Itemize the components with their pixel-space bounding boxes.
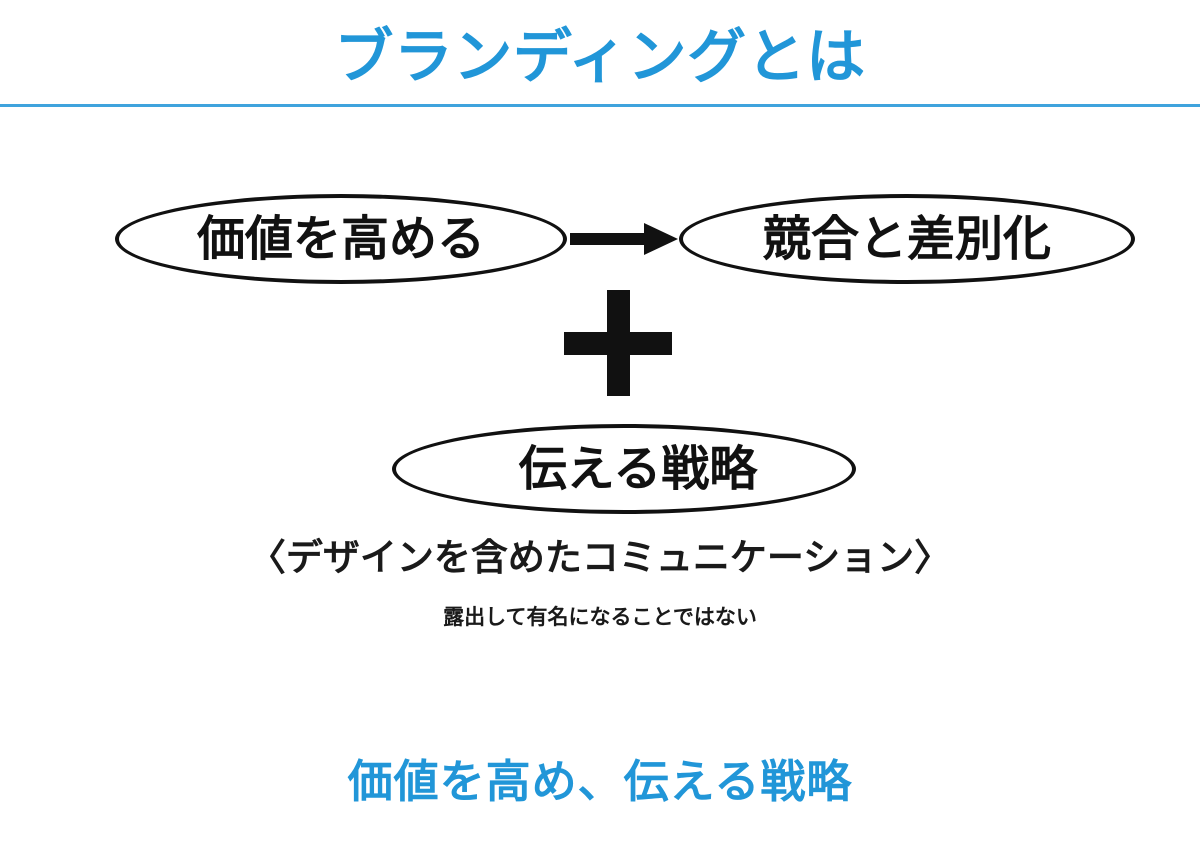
diagram-node-differentiation-label: 競合と差別化 (763, 215, 1051, 263)
diagram-node-strategy-label: 伝える戦略 (519, 445, 758, 493)
arrow-right-icon (570, 222, 678, 256)
diagram-node-value: 価値を高める (115, 194, 567, 284)
plus-icon-vertical-bar (607, 290, 630, 396)
slide: ブランディングとは 価値を高める 競合と差別化 伝える戦略 〈デザイン (0, 0, 1200, 846)
diagram-node-differentiation: 競合と差別化 (679, 194, 1135, 284)
plus-icon (564, 290, 672, 396)
diagram-node-strategy: 伝える戦略 (392, 424, 856, 514)
caption-sub: 露出して有名になることではない (0, 606, 1200, 629)
conclusion-statement: 価値を高め、伝える戦略 (0, 757, 1200, 807)
caption-main: 〈デザインを含めたコミュニケーション〉 (0, 538, 1200, 579)
diagram-node-value-label: 価値を高める (197, 215, 485, 263)
branding-diagram: 価値を高める 競合と差別化 伝える戦略 (0, 0, 1200, 846)
